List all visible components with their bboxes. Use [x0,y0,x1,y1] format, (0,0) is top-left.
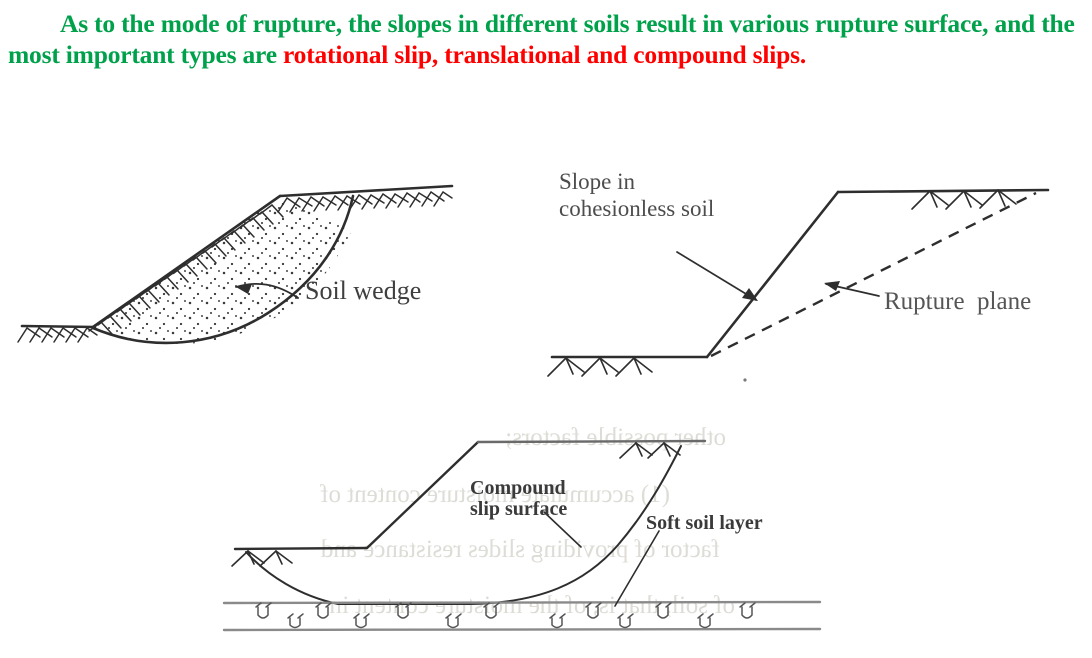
soil-wedge-fill [93,197,352,344]
ground-hatch-icon [89,205,283,334]
rupture-plane-dashed [711,193,1036,356]
arrow-head-icon [824,281,840,291]
ground-hatch-icon [912,190,1016,209]
rotational-slip-diagram [18,186,452,344]
upper-crest-line [838,190,1048,192]
heading-paragraph: As to the mode of rupture, the slopes in… [8,8,1084,70]
slope-label-leader-line [677,252,756,300]
original-slope-face [93,196,280,327]
ghost-text-line-3: factor of providing slides resistance an… [321,536,720,564]
arrow-head-icon [742,288,758,301]
scan-speck [743,378,746,381]
ghost-text-line-1: other possible factors; [505,424,726,452]
upper-ground-hatch-icon [278,192,452,212]
rotational-slip-surface [93,196,353,343]
soil-wedge-leader-line [236,284,298,298]
label-slope-in-cohesionless-soil: Slope in cohesionless soil [559,168,714,222]
label-soil-wedge: Soil wedge [305,276,421,306]
label-compound-slip-surface: Compound slip surface [470,478,567,520]
upper-ground-surface [280,186,452,196]
slope-face [707,192,838,357]
lower-ground-hatch-icon [18,328,97,342]
heading-red-text: rotational slip, translational and compo… [283,40,806,69]
ground-hatch-icon [548,358,652,376]
label-rupture-plane: Rupture plane [884,288,1031,316]
label-soft-soil-layer: Soft soil layer [646,512,763,535]
ground-hatch-icon [232,551,292,566]
ghost-text-line-4: of soil, that is, of the moisture conten… [330,592,736,620]
rupture-label-leader-line [826,284,879,296]
lower-ground-surface [22,326,95,327]
soft-layer-bottom-line [224,629,820,630]
arrow-head-icon [236,284,252,294]
